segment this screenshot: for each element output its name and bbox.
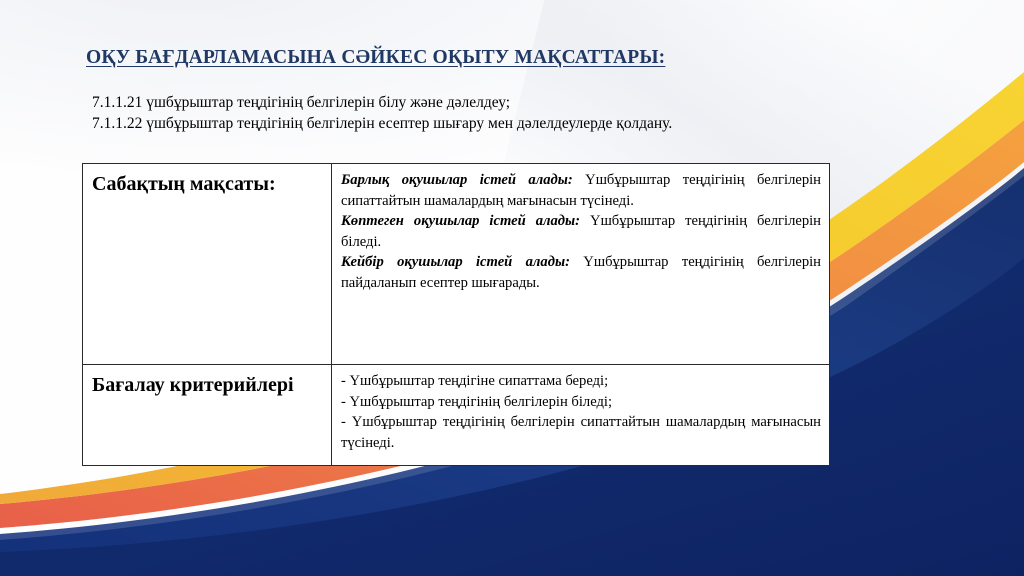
learning-objective-item: 7.1.1.22 үшбұрыштар теңдігінің белгілері… <box>92 113 912 134</box>
goal-paragraph-some-learners: Кейбір оқушылар істей алады: Үшбұрыштар … <box>341 252 821 293</box>
row-body-lesson-goal: Барлық оқушылар істей алады: Үшбұрыштар … <box>332 164 830 365</box>
goal-paragraph-all-learners: Барлық оқушылар істей алады: Үшбұрыштар … <box>341 170 821 211</box>
page-title: ОҚУ БАҒДАРЛАМАСЫНА СӘЙКЕС ОҚЫТУ МАҚСАТТА… <box>86 47 665 69</box>
row-body-assessment-criteria: - Үшбұрыштар теңдігіне сипаттама береді;… <box>332 365 830 466</box>
row-label-lesson-goal: Сабақтың мақсаты: <box>83 164 332 365</box>
slide-canvas: ОҚУ БАҒДАРЛАМАСЫНА СӘЙКЕС ОҚЫТУ МАҚСАТТА… <box>0 0 1024 576</box>
assessment-criteria-list: - Үшбұрыштар теңдігіне сипаттама береді;… <box>341 371 821 453</box>
table-row-lesson-goal: Сабақтың мақсаты: Барлық оқушылар істей … <box>83 164 830 365</box>
table-row-assessment-criteria: Бағалау критерийлері - Үшбұрыштар теңдіг… <box>83 365 830 466</box>
learning-objective-item: 7.1.1.21 үшбұрыштар теңдігінің белгілері… <box>92 92 912 113</box>
goal-paragraph-most-learners: Көптеген оқушылар істей алады: Үшбұрышта… <box>341 211 821 252</box>
assessment-criteria-item: - Үшбұрыштар теңдігіне сипаттама береді; <box>341 371 821 392</box>
assessment-criteria-item: - Үшбұрыштар теңдігінің белгілерін сипат… <box>341 412 821 453</box>
assessment-criteria-item: - Үшбұрыштар теңдігінің белгілерін білед… <box>341 392 821 413</box>
goal-lead-some-learners: Кейбір оқушылар істей алады: <box>341 254 570 270</box>
lesson-plan-table: Сабақтың мақсаты: Барлық оқушылар істей … <box>82 163 830 466</box>
learning-objectives-list: 7.1.1.21 үшбұрыштар теңдігінің белгілері… <box>92 92 912 134</box>
row-label-assessment-criteria: Бағалау критерийлері <box>83 365 332 466</box>
goal-lead-all-learners: Барлық оқушылар істей алады: <box>341 172 573 188</box>
goal-lead-most-learners: Көптеген оқушылар істей алады: <box>341 213 580 229</box>
